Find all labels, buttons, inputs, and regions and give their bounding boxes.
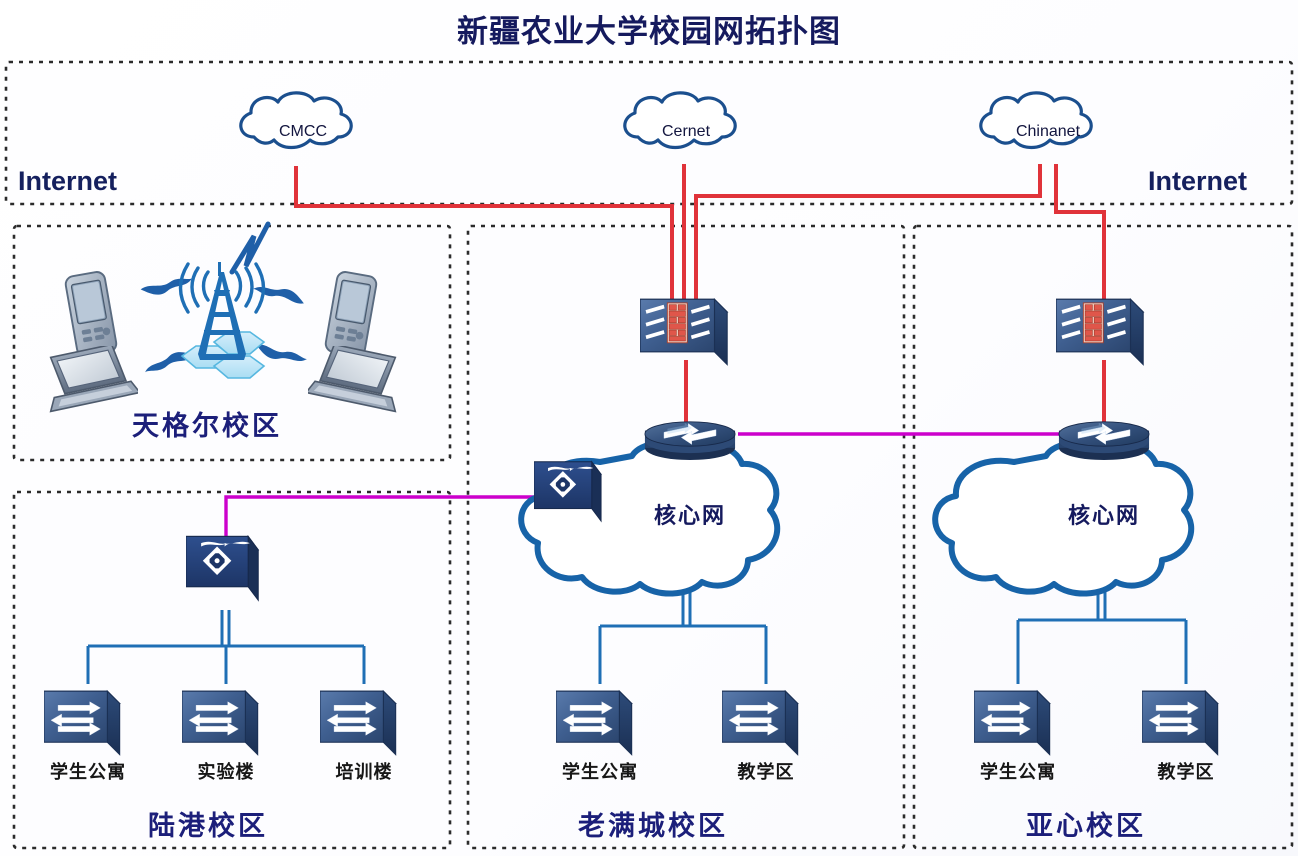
campus-label-yaxin: 亚心校区	[1026, 804, 1146, 843]
node-label-yaxin-teaching: 教学区	[1134, 758, 1238, 784]
internet-label-right: Internet	[1148, 166, 1247, 197]
node-label-lugang-training: 培训楼	[312, 758, 416, 784]
campus-label-tiangeer: 天格尔校区	[132, 404, 282, 443]
router-icon	[645, 422, 735, 460]
node-label-laomancheng-teaching: 教学区	[714, 758, 818, 784]
node-label-lugang-lab: 实验楼	[174, 758, 278, 784]
cloud-label-cernet[interactable]: Cernet	[652, 123, 720, 141]
campus-label-laomancheng: 老满城校区	[578, 804, 728, 843]
core-network-label-yaxin: 核心网	[1050, 498, 1158, 530]
node-label-laomancheng-dorm: 学生公寓	[540, 758, 660, 784]
router-icon	[1059, 422, 1149, 460]
topology-diagram: 新疆农业大学校园网拓扑图 Internet Internet CMCC Cern…	[0, 0, 1298, 856]
node-label-yaxin-dorm: 学生公寓	[958, 758, 1078, 784]
cloud-label-cmcc[interactable]: CMCC	[273, 123, 333, 141]
core-network-label-laomancheng: 核心网	[636, 498, 744, 530]
cloud-label-chinanet[interactable]: Chinanet	[1004, 123, 1092, 141]
page-title: 新疆农业大学校园网拓扑图	[0, 6, 1298, 51]
node-label-lugang-dorm: 学生公寓	[28, 758, 148, 784]
campus-label-lugang: 陆港校区	[148, 804, 268, 843]
internet-label-left: Internet	[18, 166, 117, 197]
